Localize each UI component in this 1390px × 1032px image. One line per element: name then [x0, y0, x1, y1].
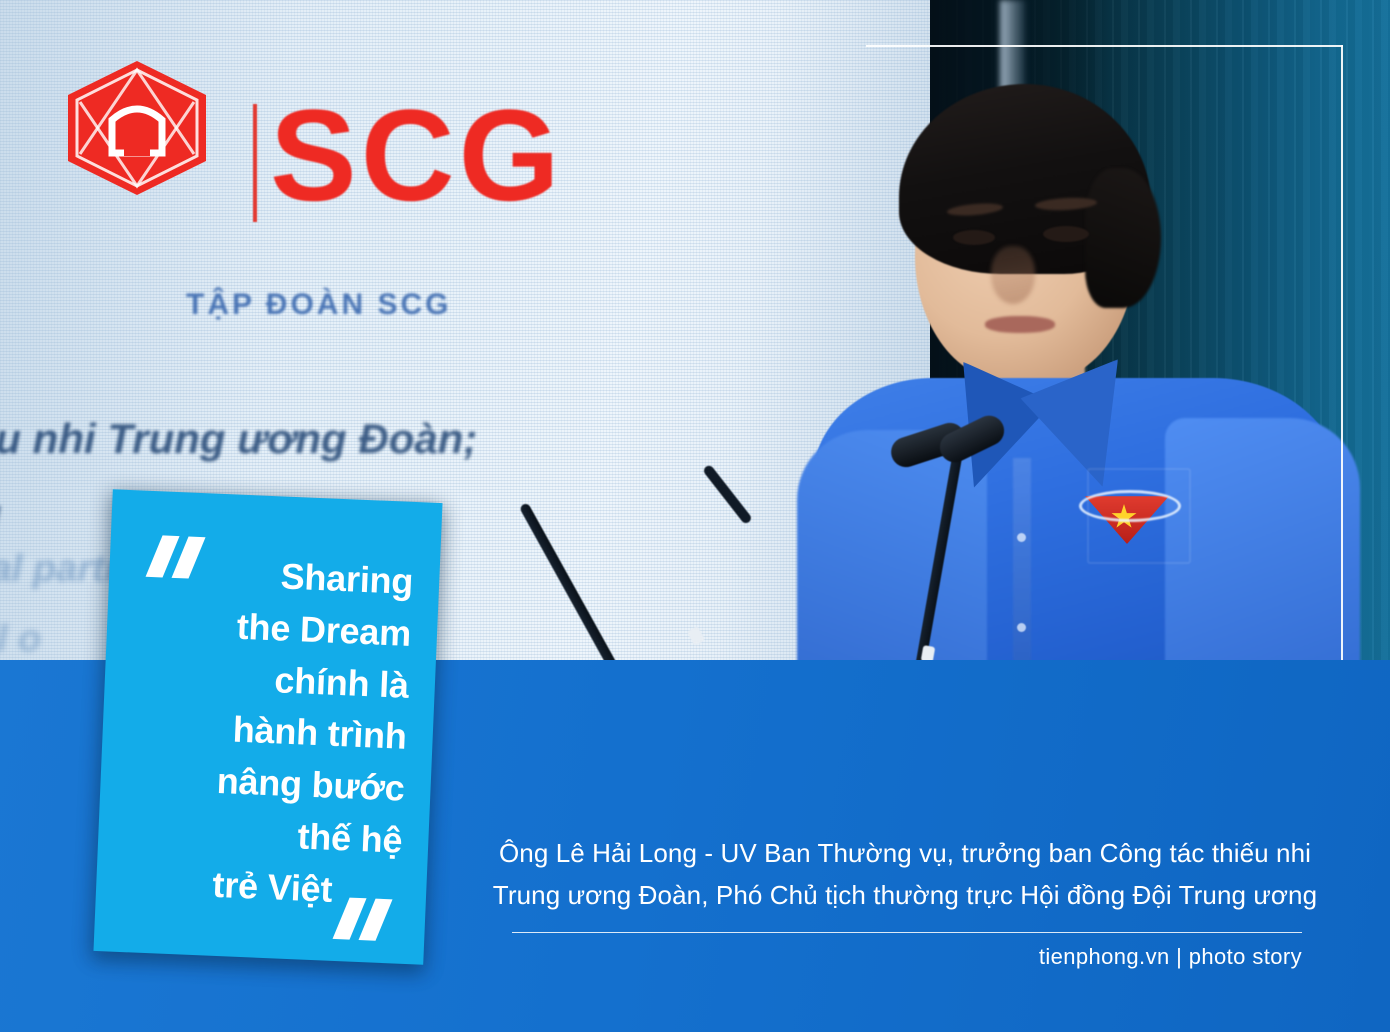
- quote-card: Sharing the Dream chính là hành trình nâ…: [93, 489, 442, 964]
- slide-text-line-4: ncil o: [0, 618, 41, 661]
- photo-story-card: SCG TẬP ĐOÀN SCG ếu nhi Trung ương Đoàn;…: [0, 0, 1390, 1032]
- credit-line: tienphong.vn | photo story: [470, 944, 1302, 970]
- youth-union-badge-icon: [1077, 490, 1177, 546]
- slide-text-line-2: g: [0, 490, 2, 538]
- scg-subtitle: TẬP ĐOÀN SCG: [186, 288, 451, 322]
- hair-side: [1085, 168, 1161, 308]
- shirt-button: [1017, 533, 1026, 542]
- quote-close-mark-icon: [340, 897, 404, 942]
- caption-line-2: Trung ương Đoàn, Phó Chủ tịch thường trự…: [470, 874, 1340, 916]
- frame-line-horizontal: [866, 45, 1343, 47]
- mouth: [985, 316, 1055, 333]
- nose: [991, 246, 1035, 304]
- logo-divider: [253, 104, 257, 222]
- scg-logo: SCG: [60, 58, 560, 218]
- eye-right: [1043, 226, 1089, 242]
- frame-line-vertical: [1341, 45, 1343, 691]
- caption-block: Ông Lê Hải Long - UV Ban Thường vụ, trưở…: [470, 832, 1340, 916]
- caption-divider: [512, 932, 1302, 933]
- caption-line-1: Ông Lê Hải Long - UV Ban Thường vụ, trưở…: [470, 832, 1340, 874]
- slide-text-line-1: ếu nhi Trung ương Đoàn;: [0, 415, 477, 463]
- scg-wordmark: SCG: [270, 90, 564, 220]
- scg-hexagon-icon: [60, 58, 215, 198]
- eye-left: [953, 230, 995, 245]
- shirt-button: [1017, 623, 1026, 632]
- quote-text: Sharing the Dream chính là hành trình nâ…: [125, 545, 414, 919]
